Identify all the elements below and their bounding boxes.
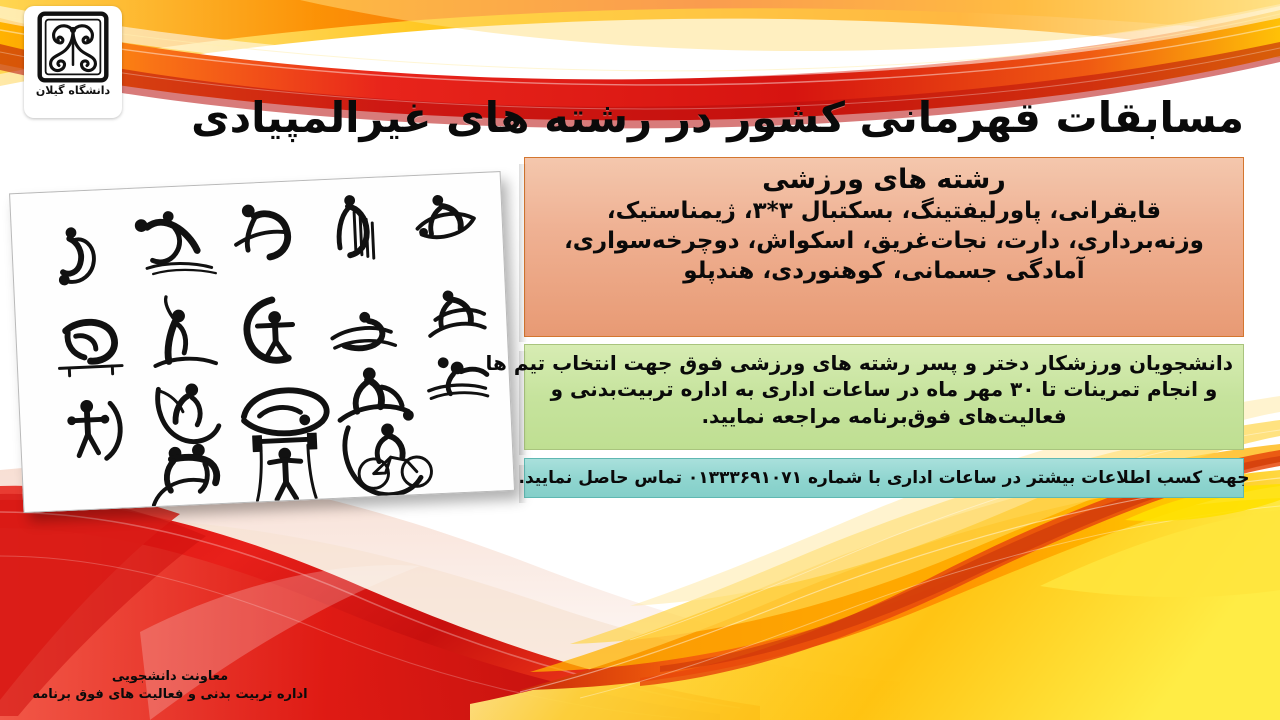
- page-title: مسابقات قهرمانی کشور در رشته های غیرالمپ…: [224, 94, 1244, 141]
- logo-card: دانشگاه گیلان: [24, 6, 122, 118]
- footer-line-2: اداره تربیت بدنی و فعالیت های فوق برنامه: [0, 686, 340, 704]
- notice-box: دانشجویان ورزشکار دختر و پسر رشته های ور…: [524, 344, 1244, 450]
- sports-box-heading: رشته های ورزشی: [535, 164, 1233, 196]
- sports-pictograms-collage-icon: [10, 172, 514, 512]
- sports-line-1: قایقرانی، پاورلیفتینگ، بسکتبال ۳*۳، ژیمن…: [535, 197, 1233, 227]
- poster-canvas: دانشگاه گیلان مسابقات قهرمانی کشور در رش…: [0, 0, 1280, 720]
- notice-line-1: دانشجویان ورزشکار دختر و پسر رشته های ور…: [535, 350, 1233, 376]
- sports-line-2: وزنه‌برداری، دارت، نجات‌غریق، اسکواش، دو…: [535, 227, 1233, 257]
- university-logo: دانشگاه گیلان: [24, 6, 122, 118]
- notice-line-2: و انجام تمرینات تا ۳۰ مهر ماه در ساعات ا…: [535, 376, 1233, 402]
- logo-caption: دانشگاه گیلان: [36, 85, 110, 96]
- footer-line-1: معاونت دانشجویی: [0, 668, 340, 686]
- sports-pictograms-photo: [11, 171, 515, 511]
- notice-line-3: فعالیت‌های فوق‌برنامه مراجعه نمایید.: [535, 403, 1233, 429]
- photo-frame: [9, 171, 515, 513]
- contact-text: جهت کسب اطلاعات بیشتر در ساعات اداری با …: [519, 468, 1250, 488]
- contact-box: جهت کسب اطلاعات بیشتر در ساعات اداری با …: [524, 458, 1244, 498]
- sports-list-box: رشته های ورزشی قایقرانی، پاورلیفتینگ، بس…: [524, 157, 1244, 337]
- footer-credits: معاونت دانشجویی اداره تربیت بدنی و فعالی…: [0, 668, 340, 703]
- sports-line-3: آمادگی جسمانی، کوهنوردی، هندپلو: [535, 257, 1233, 287]
- university-of-guilan-emblem-icon: [36, 10, 110, 84]
